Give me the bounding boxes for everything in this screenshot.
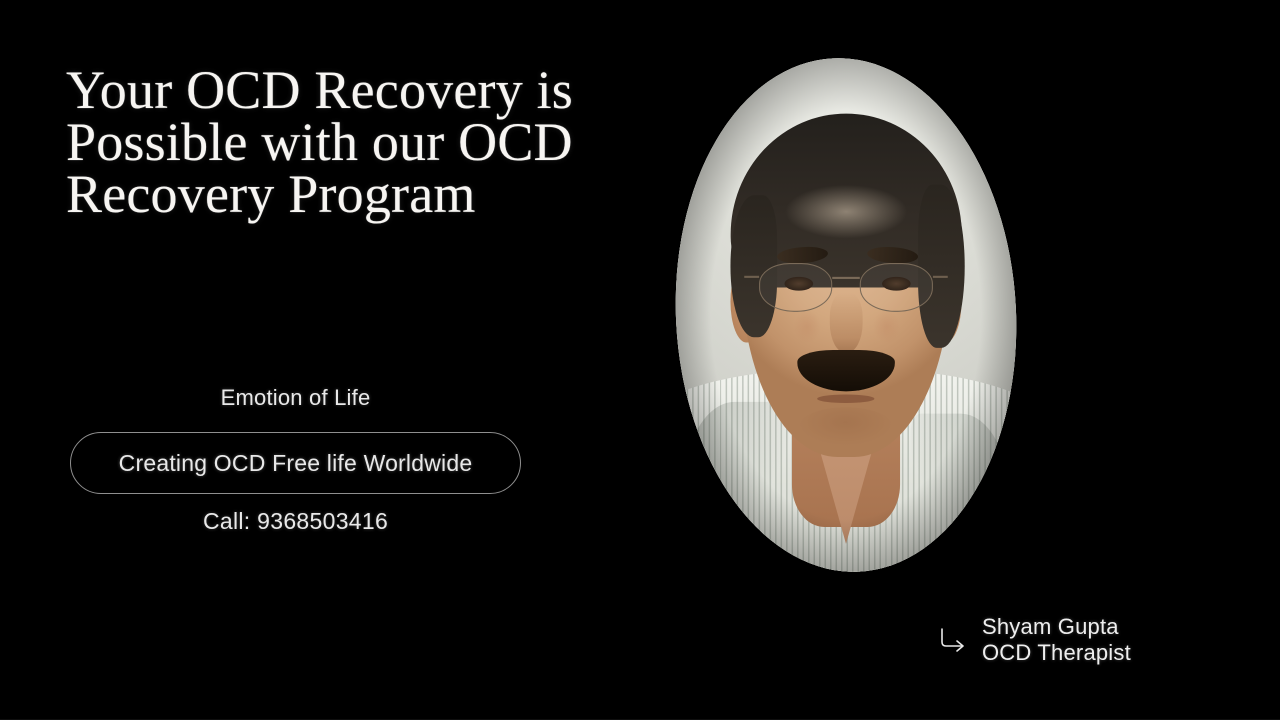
signature-role: OCD Therapist [982,640,1131,666]
portrait-lens-left [759,263,832,312]
pill-button-label: Creating OCD Free life Worldwide [119,450,473,477]
portrait-chin-shadow [799,408,893,446]
headline-line-1: Your OCD Recovery is [66,64,686,116]
therapist-portrait [663,49,1029,580]
portrait-image [666,49,1026,580]
portrait-shirt-shadow-left [680,402,788,580]
promo-slide: Your OCD Recovery is Possible with our O… [0,0,1280,720]
portrait-nose [830,293,862,353]
page-title: Your OCD Recovery is Possible with our O… [66,64,686,220]
call-phone-number[interactable]: Call: 9368503416 [70,508,521,535]
portrait-glasses-temple-left [744,276,760,278]
portrait-forehead-highlight [785,184,908,238]
signature-name: Shyam Gupta [982,614,1131,640]
portrait-cheek-right [873,310,900,344]
signature-text: Shyam Gupta OCD Therapist [982,614,1131,666]
creating-ocd-free-life-button[interactable]: Creating OCD Free life Worldwide [70,432,521,494]
arrow-down-right-icon [938,626,968,654]
headline-line-2: Possible with our OCD [66,116,686,168]
headline-line-3: Recovery Program [66,168,686,220]
portrait-lens-right [860,263,933,312]
signature-block: Shyam Gupta OCD Therapist [938,614,1131,666]
portrait-cheek-left [794,310,821,344]
tagline: Emotion of Life [70,384,521,412]
portrait-glasses-temple-right [932,276,948,278]
portrait-glasses-bridge [832,277,860,279]
